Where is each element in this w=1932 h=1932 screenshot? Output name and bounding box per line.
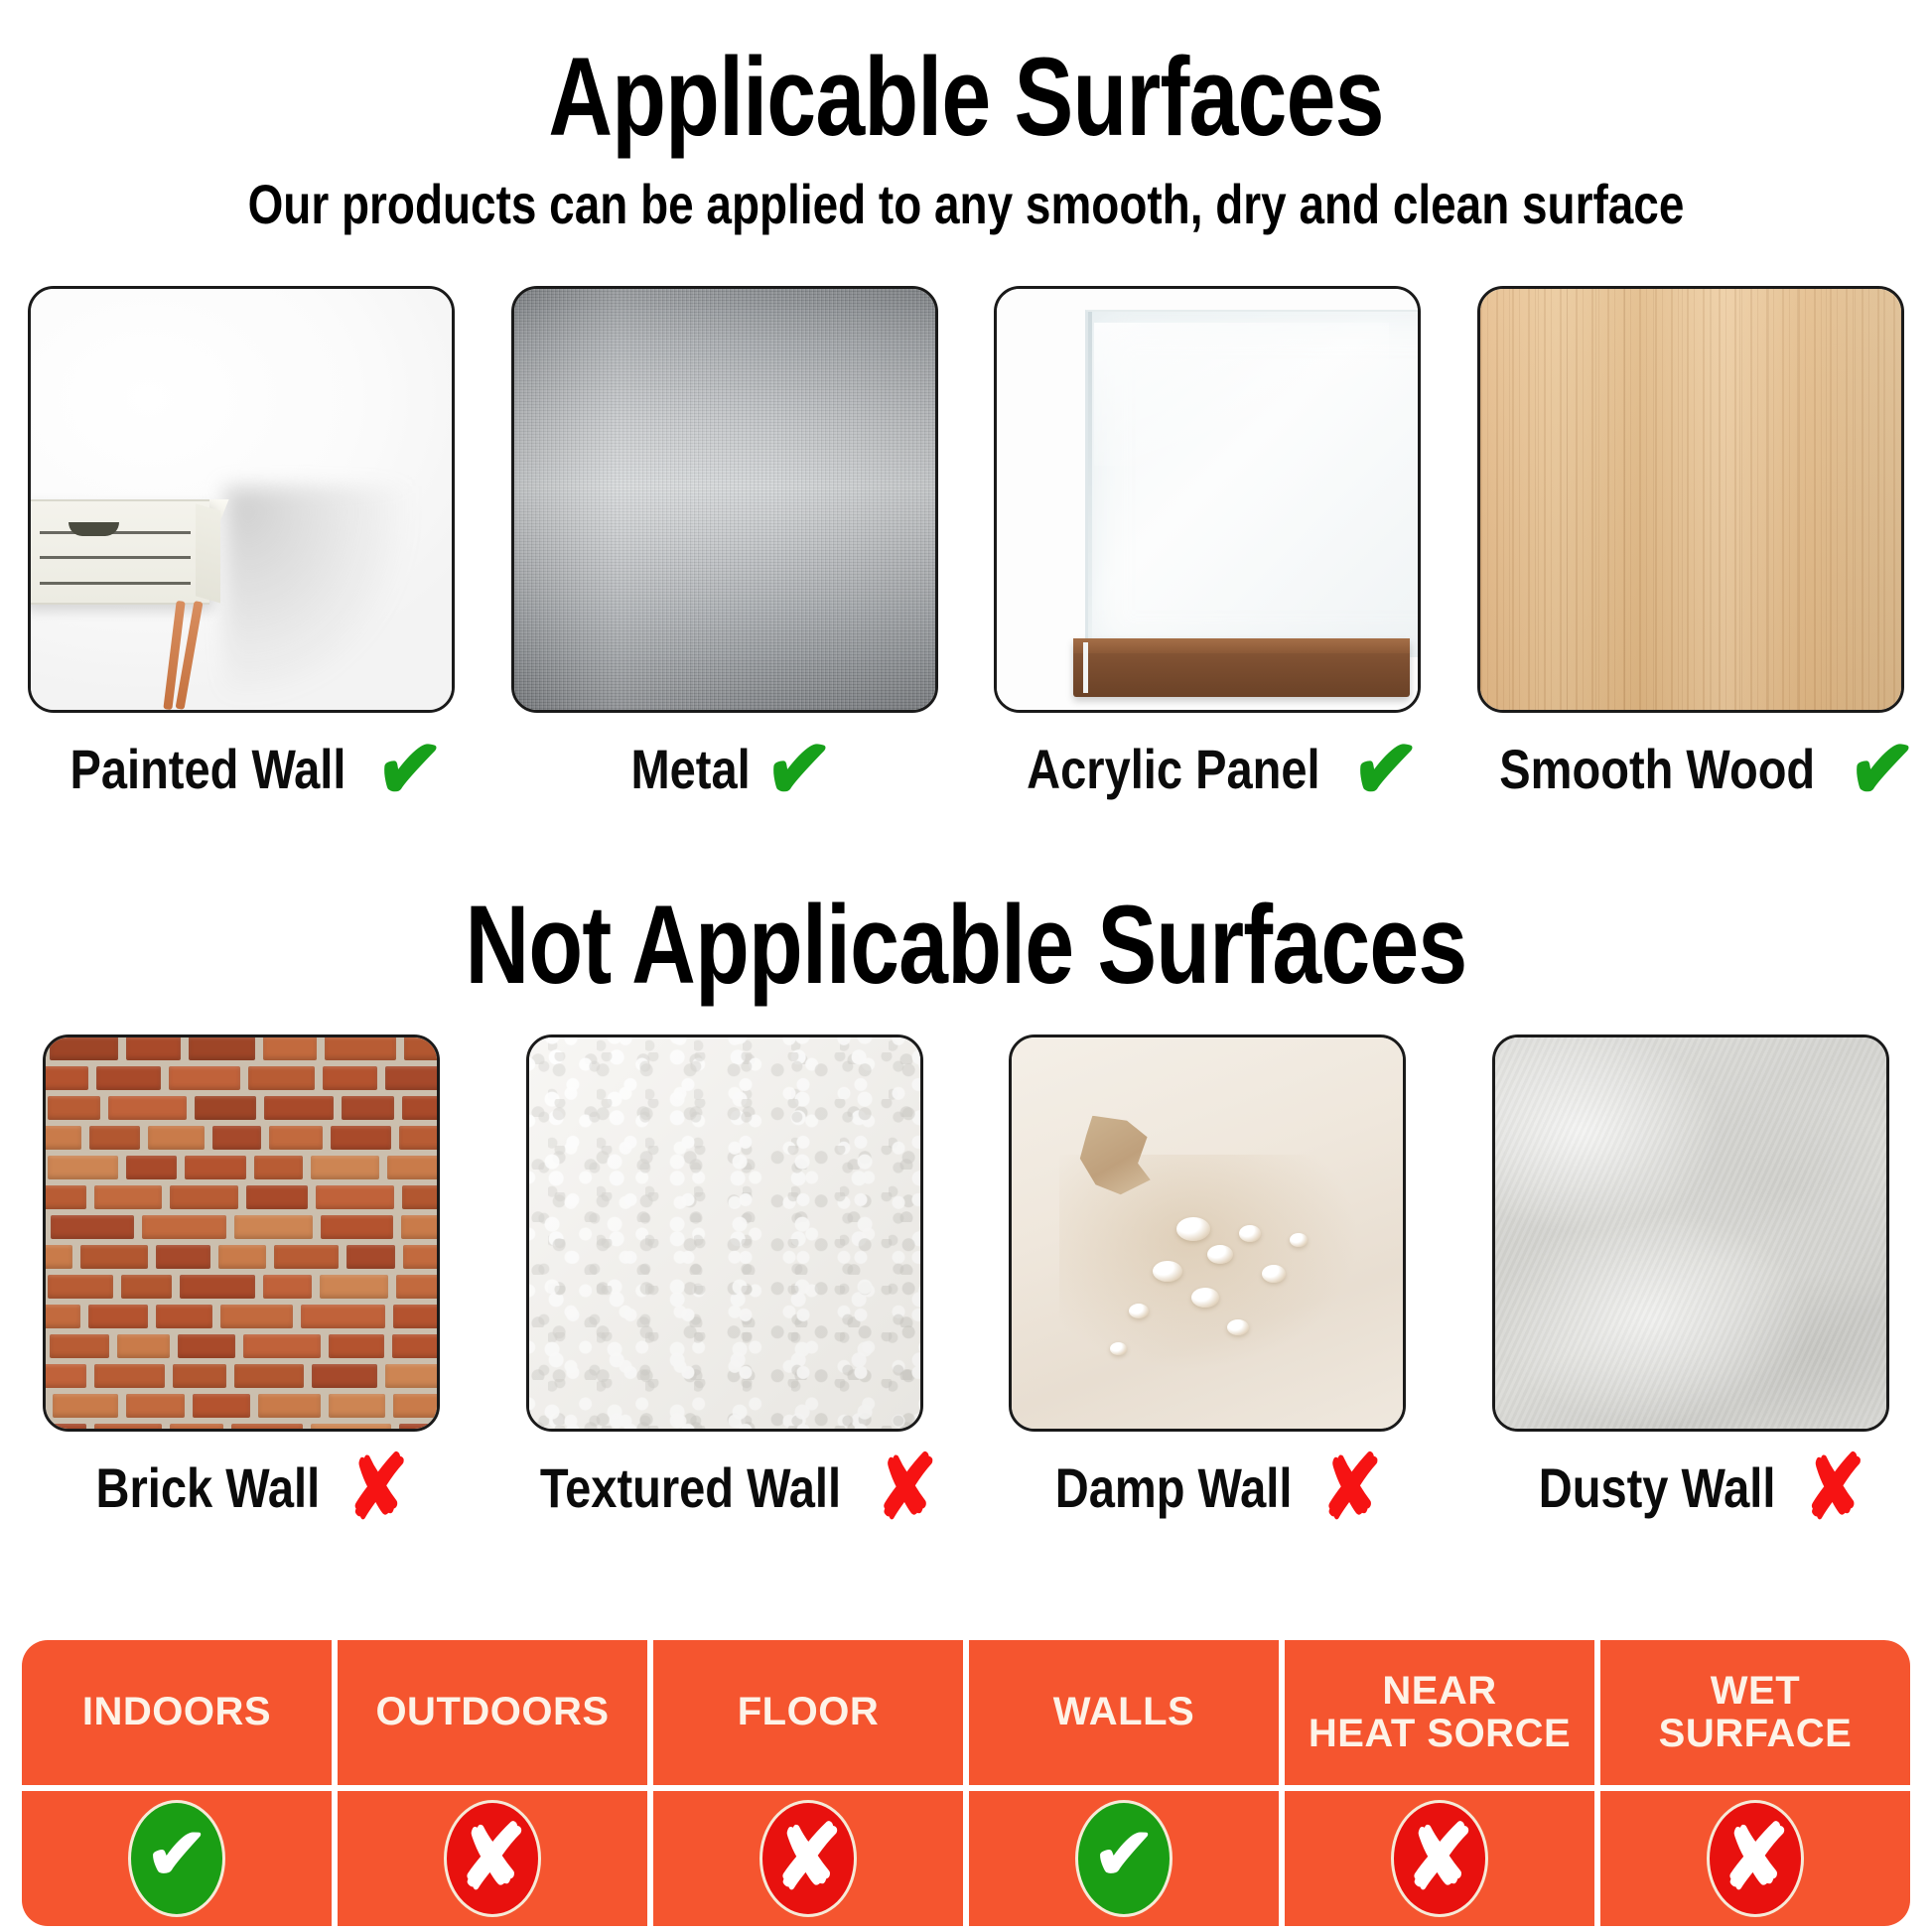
check-icon: ✔ <box>761 719 836 820</box>
brick-wall-image <box>43 1035 440 1432</box>
page-title-applicable: Applicable Surfaces <box>194 42 1739 153</box>
surface-label-text: Dusty Wall <box>1538 1460 1775 1516</box>
usage-matrix-status-cell: ✘ <box>1285 1791 1594 1926</box>
page-title-not-applicable: Not Applicable Surfaces <box>194 890 1739 1001</box>
check-icon: ✔ <box>371 719 446 820</box>
cross-icon: ✘ <box>1320 1445 1382 1533</box>
cross-icon: ✘ <box>876 1445 937 1533</box>
damp-wall-image <box>1009 1035 1406 1432</box>
acrylic-panel-image <box>994 286 1421 713</box>
surface-label-textured-wall: Textured Wall ✘ <box>511 1451 937 1525</box>
usage-matrix-status-cell: ✘ <box>338 1791 647 1926</box>
usage-matrix-header-cell: OUTDOORS <box>338 1640 647 1785</box>
surface-label-text: Smooth Wood <box>1499 742 1815 797</box>
badge-glyph: ✘ <box>773 1814 842 1903</box>
usage-matrix-status-row: ✔✘✘✔✘✘ <box>22 1791 1910 1926</box>
usage-matrix-header-label: WET SURFACE <box>1659 1670 1853 1755</box>
usage-matrix-header-label: NEAR HEAT SORCE <box>1309 1670 1571 1755</box>
cross-badge-icon: ✘ <box>444 1800 541 1917</box>
surface-card-textured-wall: Textured Wall ✘ <box>483 1035 967 1525</box>
surface-label-dusty-wall: Dusty Wall ✘ <box>1516 1451 1865 1525</box>
usage-matrix-header-label: INDOORS <box>82 1691 271 1733</box>
surface-card-brick-wall: Brick Wall ✘ <box>0 1035 483 1525</box>
cross-icon: ✘ <box>347 1445 409 1533</box>
usage-matrix-status-cell: ✔ <box>969 1791 1279 1926</box>
surface-label-metal: Metal ✔ <box>620 733 829 806</box>
usage-matrix: INDOORSOUTDOORSFLOORWALLSNEAR HEAT SORCE… <box>22 1640 1910 1926</box>
applicable-surfaces-row: Painted Wall ✔ Metal ✔ Acrylic Panel ✔ <box>0 286 1932 806</box>
check-badge-icon: ✔ <box>1075 1800 1173 1917</box>
textured-wall-image <box>526 1035 923 1432</box>
usage-matrix-status-cell: ✔ <box>22 1791 332 1926</box>
badge-glyph: ✔ <box>145 1819 207 1890</box>
usage-matrix-header-label: FLOOR <box>738 1691 879 1733</box>
usage-matrix-header-cell: WALLS <box>969 1640 1279 1785</box>
dusty-wall-image <box>1492 1035 1889 1432</box>
check-icon: ✔ <box>1844 719 1918 820</box>
cross-badge-icon: ✘ <box>1391 1800 1488 1917</box>
not-applicable-surfaces-row: Brick Wall ✘ Textured Wall ✘ <box>0 1035 1932 1525</box>
cross-badge-icon: ✘ <box>759 1800 857 1917</box>
usage-matrix-status-cell: ✘ <box>1600 1791 1910 1926</box>
usage-matrix-header-cell: WET SURFACE <box>1600 1640 1910 1785</box>
surface-card-dusty-wall: Dusty Wall ✘ <box>1449 1035 1932 1525</box>
smooth-wood-image <box>1477 286 1904 713</box>
usage-matrix-header-row: INDOORSOUTDOORSFLOORWALLSNEAR HEAT SORCE… <box>22 1640 1910 1785</box>
surface-card-smooth-wood: Smooth Wood ✔ <box>1449 286 1932 806</box>
badge-glyph: ✘ <box>1405 1814 1473 1903</box>
check-badge-icon: ✔ <box>128 1800 225 1917</box>
surface-label-smooth-wood: Smooth Wood ✔ <box>1469 733 1912 806</box>
usage-matrix-header-cell: INDOORS <box>22 1640 332 1785</box>
surface-label-text: Textured Wall <box>540 1460 841 1516</box>
surface-card-painted-wall: Painted Wall ✔ <box>0 286 483 806</box>
surface-label-text: Acrylic Panel <box>1027 742 1319 797</box>
surface-label-brick-wall: Brick Wall ✘ <box>74 1451 409 1525</box>
painted-wall-image <box>28 286 455 713</box>
surface-label-text: Metal <box>631 742 751 797</box>
usage-matrix-header-cell: NEAR HEAT SORCE <box>1285 1640 1594 1785</box>
surface-label-text: Damp Wall <box>1055 1460 1293 1516</box>
surface-label-damp-wall: Damp Wall ✘ <box>1033 1451 1382 1525</box>
surface-label-painted-wall: Painted Wall ✔ <box>44 733 440 806</box>
surface-card-metal: Metal ✔ <box>483 286 967 806</box>
metal-image <box>511 286 938 713</box>
surface-label-text: Brick Wall <box>95 1460 320 1516</box>
usage-matrix-header-label: WALLS <box>1053 1691 1194 1733</box>
badge-glyph: ✘ <box>458 1814 526 1903</box>
surface-card-acrylic-panel: Acrylic Panel ✔ <box>966 286 1449 806</box>
badge-glyph: ✔ <box>1092 1819 1155 1890</box>
page-subtitle: Our products can be applied to any smoot… <box>174 177 1758 232</box>
check-icon: ✔ <box>1347 719 1422 820</box>
surface-label-text: Painted Wall <box>69 742 345 797</box>
surface-label-acrylic-panel: Acrylic Panel ✔ <box>999 733 1416 806</box>
usage-matrix-status-cell: ✘ <box>653 1791 963 1926</box>
usage-matrix-header-cell: FLOOR <box>653 1640 963 1785</box>
badge-glyph: ✘ <box>1721 1814 1789 1903</box>
usage-matrix-header-label: OUTDOORS <box>375 1691 609 1733</box>
surface-card-damp-wall: Damp Wall ✘ <box>966 1035 1449 1525</box>
cross-icon: ✘ <box>1804 1445 1865 1533</box>
cross-badge-icon: ✘ <box>1707 1800 1804 1917</box>
